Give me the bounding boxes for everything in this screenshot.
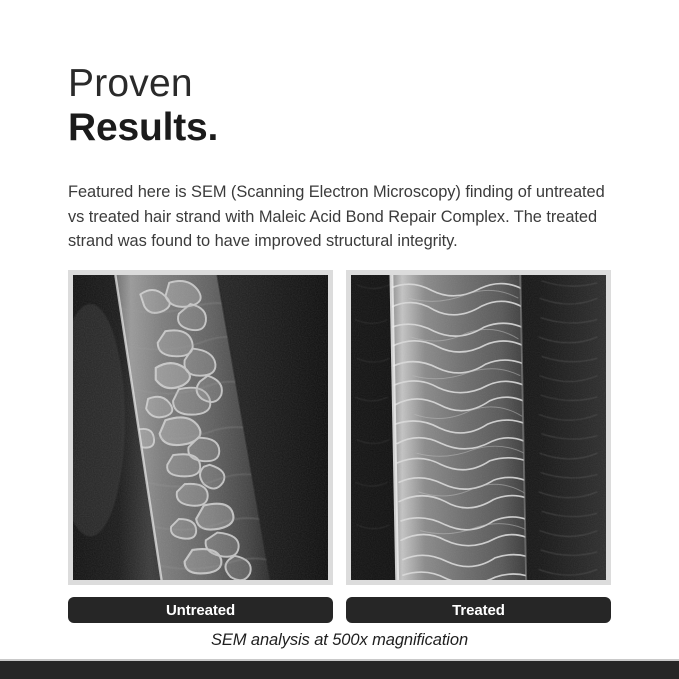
label-treated: Treated bbox=[346, 597, 611, 623]
product-results-panel: Proven Results. Featured here is SEM (Sc… bbox=[0, 0, 679, 679]
sem-image-row bbox=[68, 270, 611, 585]
title-line-proven: Proven bbox=[68, 62, 628, 106]
sem-panel-untreated bbox=[68, 270, 333, 585]
panel-label-row: Untreated Treated bbox=[68, 597, 611, 623]
magnification-caption: SEM analysis at 500x magnification bbox=[68, 631, 611, 650]
sem-panel-treated bbox=[346, 270, 611, 585]
label-untreated: Untreated bbox=[68, 597, 333, 623]
sem-image-untreated bbox=[73, 275, 328, 580]
bottom-bar bbox=[0, 661, 679, 679]
sem-image-treated bbox=[351, 275, 606, 580]
title-line-results: Results. bbox=[68, 106, 628, 150]
description-paragraph: Featured here is SEM (Scanning Electron … bbox=[68, 180, 620, 254]
page-title: Proven Results. bbox=[68, 62, 628, 150]
